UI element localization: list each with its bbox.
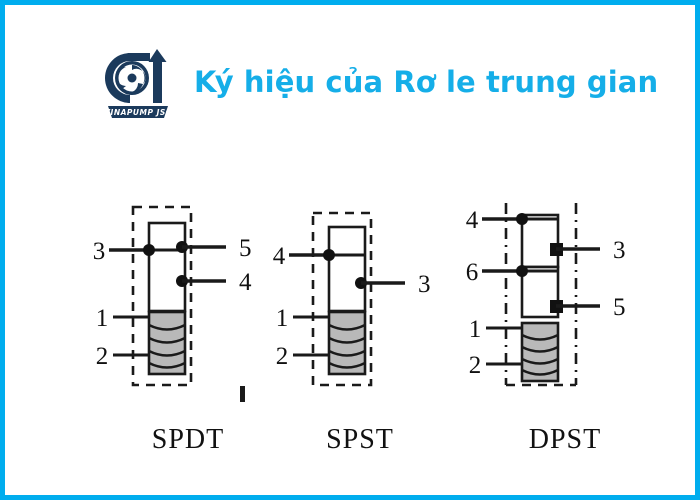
spdt-terminal-label-2: 2 bbox=[96, 343, 109, 370]
stray-tick-artifact bbox=[240, 386, 245, 402]
dpst-pivot-dot-4 bbox=[516, 213, 528, 225]
dpst-pivot-dot-6 bbox=[516, 265, 528, 277]
dpst-terminal-label-1: 1 bbox=[469, 316, 482, 343]
dpst-terminal-label-2: 2 bbox=[469, 352, 482, 379]
relay-symbols-group: 3 5 4 1 2 SPDT bbox=[5, 195, 695, 460]
spst-terminal-label-1: 1 bbox=[276, 305, 289, 332]
dpst-terminal-label-4: 4 bbox=[466, 207, 479, 234]
vinapump-logo: VINAPUMP JSC bbox=[100, 43, 176, 121]
spst-terminal-label-4: 4 bbox=[273, 243, 286, 270]
spdt-switch-body bbox=[149, 223, 185, 311]
dpst-caption: DPST bbox=[460, 424, 670, 456]
spdt-terminal-label-4: 4 bbox=[239, 269, 252, 296]
image-canvas: VINAPUMP JSC Ký hiệu của Rơ le trung gia… bbox=[0, 0, 700, 500]
spst-terminal-label-2: 2 bbox=[276, 343, 289, 370]
logo-wordmark: VINAPUMP JSC bbox=[104, 108, 172, 117]
spdt-pivot-dot bbox=[143, 244, 155, 256]
spst-terminal-label-3: 3 bbox=[418, 271, 431, 298]
dpst-terminal-label-3: 3 bbox=[613, 237, 626, 264]
dpst-switch-body-upper bbox=[522, 215, 558, 267]
spdt-terminal-label-1: 1 bbox=[96, 305, 109, 332]
dpst-schematic: 4 3 6 5 1 2 bbox=[460, 195, 670, 415]
spdt-terminal-label-3: 3 bbox=[93, 238, 106, 265]
dpst-terminal-label-5: 5 bbox=[613, 294, 626, 321]
header: VINAPUMP JSC Ký hiệu của Rơ le trung gia… bbox=[100, 43, 658, 121]
spdt-terminal-label-5: 5 bbox=[239, 235, 252, 262]
spst-schematic: 4 3 1 2 bbox=[255, 195, 465, 415]
page-title: Ký hiệu của Rơ le trung gian bbox=[194, 68, 658, 97]
spst-switch-body bbox=[329, 227, 365, 311]
relay-diagram-dpst: 4 3 6 5 1 2 DPST bbox=[460, 195, 670, 460]
spst-caption: SPST bbox=[255, 424, 465, 456]
dpst-terminal-label-6: 6 bbox=[466, 259, 479, 286]
relay-diagram-spst: 4 3 1 2 SPST bbox=[255, 195, 465, 460]
spst-pivot-dot bbox=[323, 249, 335, 261]
